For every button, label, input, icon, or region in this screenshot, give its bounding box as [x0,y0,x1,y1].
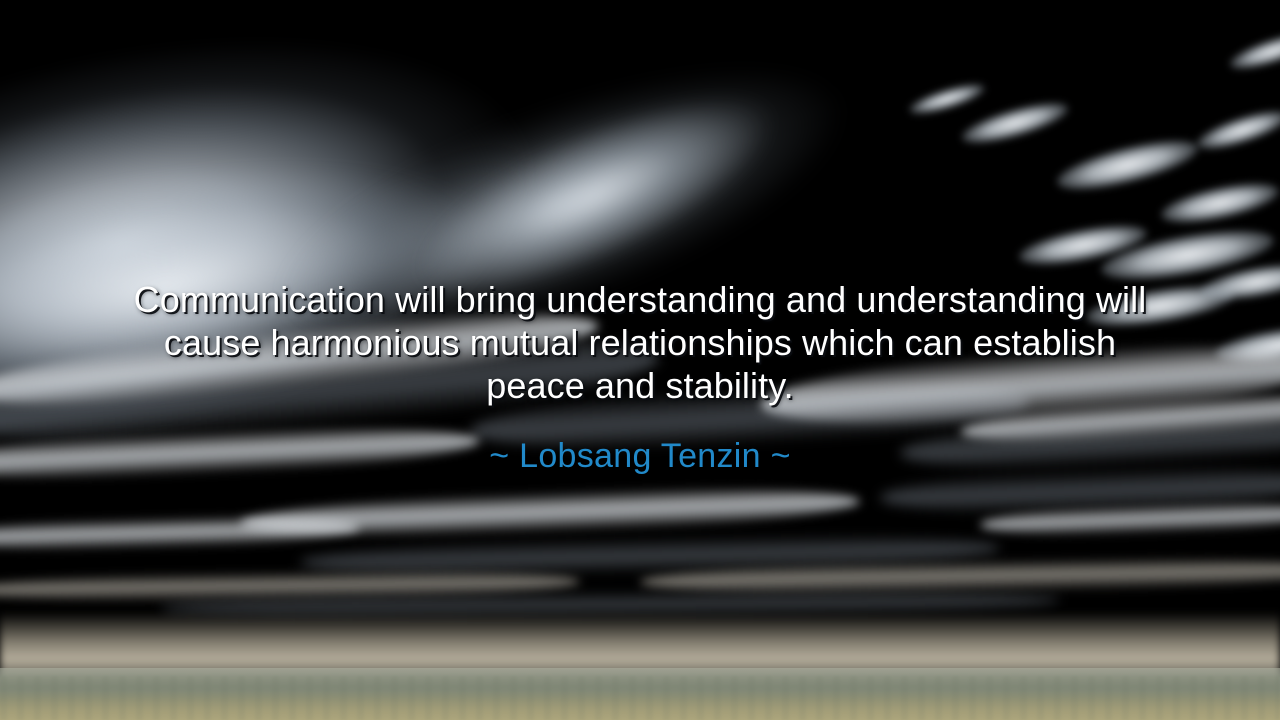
quote-line-3: peace and stability. [0,364,1280,407]
landscape-texture-overlay [0,676,1280,720]
quote-line-1: Communication will bring understanding a… [0,278,1280,321]
quote-attribution: ~ Lobsang Tenzin ~ [0,435,1280,477]
quote-image-canvas: Communication will bring understanding a… [0,0,1280,720]
quote-line-2: cause harmonious mutual relationships wh… [0,321,1280,364]
quote-text-block: Communication will bring understanding a… [0,278,1280,407]
